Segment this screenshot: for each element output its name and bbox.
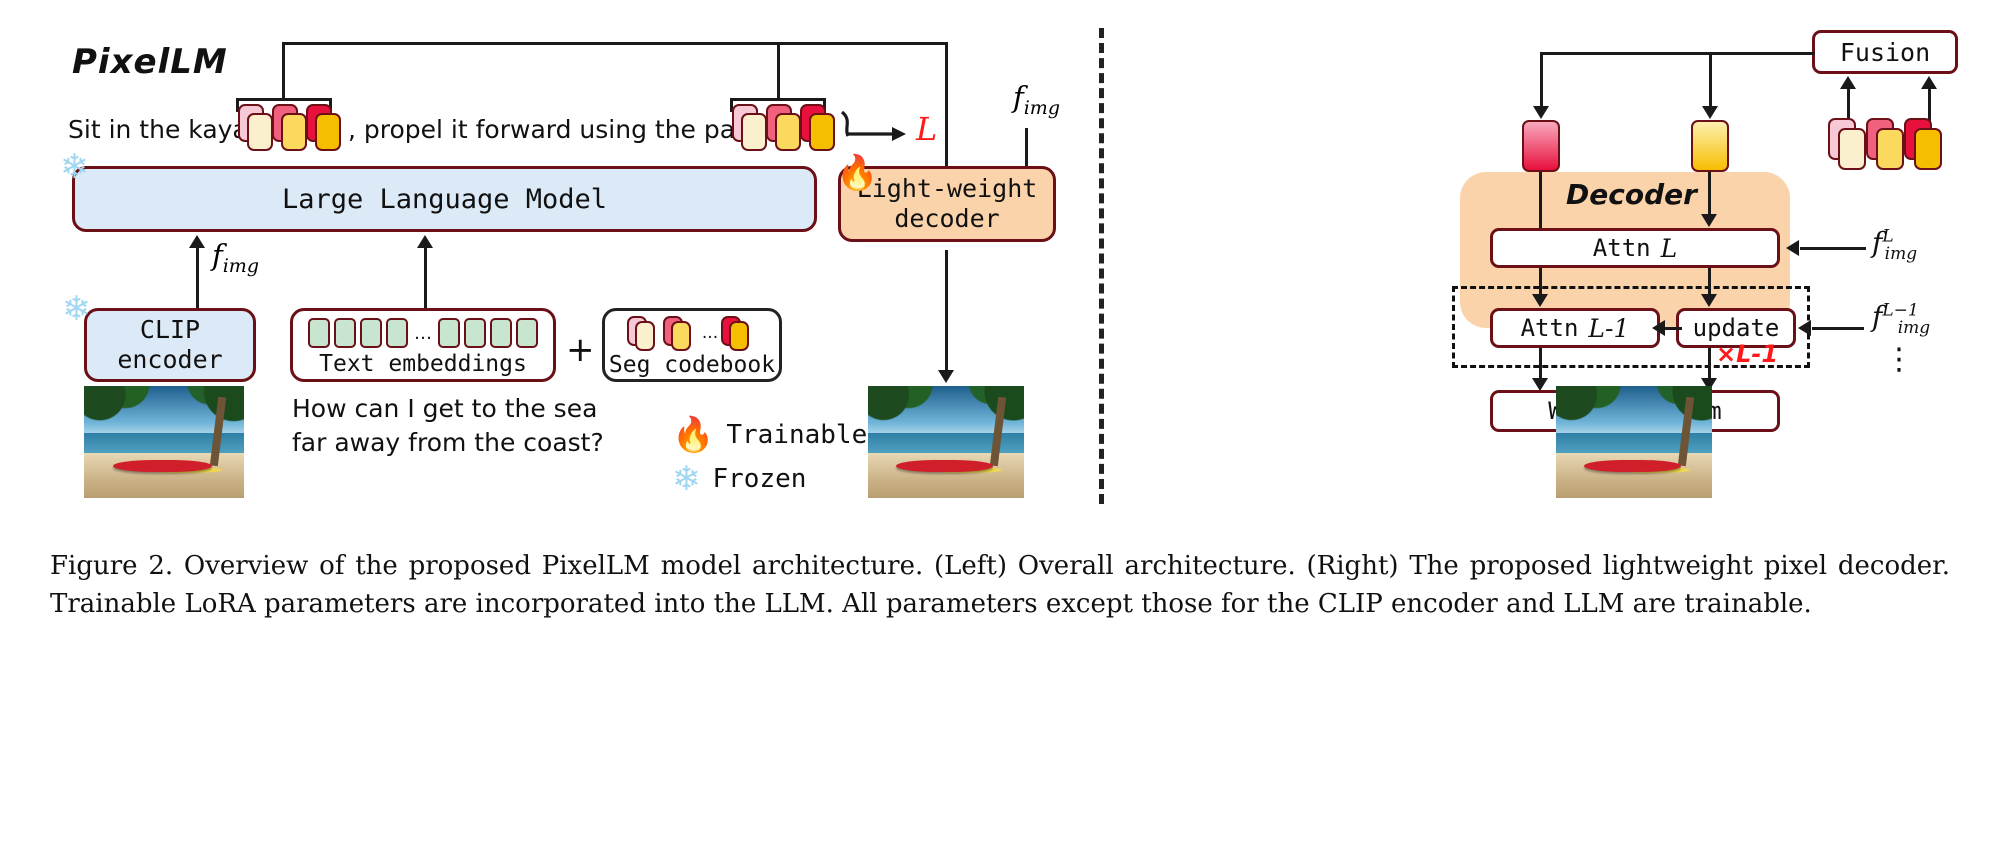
- text-embedding-token: [334, 318, 356, 348]
- right-rail-left-drop: [1540, 52, 1543, 110]
- f-img-Lm1-arrowhead: [1798, 320, 1811, 336]
- attnL-to-attnLm1-arrowhead: [1532, 294, 1548, 307]
- token-front-3: [1914, 128, 1942, 170]
- attnL-to-update-arrowhead: [1701, 294, 1717, 307]
- snowflake-icon: ❄: [62, 292, 91, 326]
- attn-L-name: Attn: [1593, 234, 1651, 262]
- update-to-attnLm1-line: [1664, 327, 1682, 330]
- fire-icon: 🔥: [836, 156, 878, 190]
- token-front-1: [247, 113, 273, 151]
- text-embedding-token: [464, 318, 486, 348]
- decoder-line-1: Light-weight: [857, 174, 1038, 204]
- text-embedding-token: [490, 318, 512, 348]
- query-token-yellow: [1691, 120, 1729, 172]
- f-img-L-line: [1800, 247, 1866, 250]
- token-group-a: [238, 104, 342, 154]
- text-embeddings-ellipsis: …: [412, 323, 434, 344]
- token-front-1: [741, 113, 767, 151]
- figure-root: PixelLM Sit in the kayak , propel it for…: [0, 0, 2000, 849]
- right-rail-left-arrowhead: [1533, 106, 1549, 119]
- f-img-L-label: fLimg: [1872, 226, 1917, 264]
- embeddings-to-llm-line: [424, 247, 427, 309]
- top-rail: [282, 42, 948, 45]
- text-embedding-token: [308, 318, 330, 348]
- f-img-Lm1-sub: img: [1898, 318, 1930, 338]
- sentence-part-1: Sit in the kayak: [68, 115, 262, 144]
- f-img-decoder-label: fimg: [1013, 80, 1060, 119]
- decoder-line-2: decoder: [894, 204, 999, 234]
- f-img-L-sub: img: [1885, 244, 1917, 264]
- text-embedding-token: [360, 318, 382, 348]
- legend-trainable: 🔥 Trainable: [672, 418, 867, 452]
- token-front-3: [315, 113, 341, 151]
- seg-token-pair: [627, 316, 663, 350]
- repeat-count-label: ×L-1: [1716, 340, 1778, 368]
- output-image-right: [1556, 386, 1712, 498]
- attnL-to-update-line: [1708, 268, 1711, 296]
- update-to-sum-line: [1708, 348, 1711, 382]
- attnLm1-to-sum-line: [1539, 348, 1542, 382]
- fusion-output-line: [1812, 52, 1815, 55]
- decoder-to-output-arrowhead: [938, 370, 954, 383]
- text-embeddings-label: Text embeddings: [319, 351, 527, 377]
- text-embeddings-box[interactable]: … Text embeddings: [290, 308, 556, 382]
- f-img-Lm1-label: fL−1img: [1872, 300, 1930, 338]
- f-img-L-base: f: [1872, 226, 1882, 259]
- bracket-a-stem: [282, 42, 285, 99]
- f-img-base: f: [1013, 80, 1024, 114]
- fire-icon: 🔥: [672, 418, 714, 452]
- legend-frozen: ❄ Frozen: [672, 462, 806, 496]
- attnL-to-attnLm1-line: [1539, 268, 1542, 296]
- sentence-part-2: , propel it forward using the paddle: [348, 115, 789, 144]
- right-rail-mid-drop: [1709, 52, 1712, 110]
- snowflake-icon: ❄: [672, 462, 701, 496]
- question-line-2: far away from the coast?: [292, 428, 604, 457]
- right-rail-mid-arrowhead: [1702, 106, 1718, 119]
- text-embedding-token: [516, 318, 538, 348]
- fusion-box[interactable]: Fusion: [1812, 30, 1958, 74]
- yellow-token-stem: [1708, 172, 1711, 216]
- right-codebook-tokens: [1828, 118, 1968, 174]
- token-front-3: [809, 113, 835, 151]
- token-front-1: [1838, 128, 1866, 170]
- token-front-2: [281, 113, 307, 151]
- embeddings-to-llm-arrowhead: [417, 235, 433, 248]
- text-embedding-token: [438, 318, 460, 348]
- right-top-rail: [1540, 52, 1814, 55]
- codebook-to-fusion-arrowhead-2: [1921, 76, 1937, 89]
- decoder-to-output-line: [945, 250, 948, 372]
- legend-trainable-label: Trainable: [726, 420, 867, 450]
- clip-encoder-box[interactable]: CLIP encoder: [84, 308, 256, 382]
- codebook-to-fusion-arrowhead-1: [1840, 76, 1856, 89]
- bracket-b-stem: [777, 42, 780, 99]
- clip-line-2: encoder: [117, 345, 222, 375]
- yellow-token-arrowhead: [1701, 214, 1717, 227]
- f-img-sub: img: [223, 255, 259, 277]
- f-img-Lm1-base: f: [1872, 300, 1882, 333]
- token-front-2: [775, 113, 801, 151]
- figure-caption: Figure 2. Overview of the proposed Pixel…: [50, 548, 1950, 623]
- token-group-b: [732, 104, 836, 154]
- f-img-base: f: [212, 238, 223, 272]
- seg-codebook-box[interactable]: ... Seg codebook: [602, 308, 782, 382]
- loss-label: L: [916, 110, 937, 148]
- vertical-dots: ⋮: [1884, 346, 1914, 373]
- f-img-Lm1-line: [1812, 327, 1864, 330]
- red-token-stem: [1539, 172, 1542, 228]
- seg-codebook-ellipsis: ...: [699, 323, 721, 343]
- attn-L-index: L: [1661, 234, 1678, 263]
- seg-codebook-label: Seg codebook: [609, 352, 775, 378]
- seg-token-pair: [663, 316, 699, 350]
- f-img-L-arrowhead: [1786, 240, 1799, 256]
- attn-L-box[interactable]: Attn L: [1490, 228, 1780, 268]
- question-line-1: How can I get to the sea: [292, 394, 597, 423]
- query-token-red: [1522, 120, 1560, 172]
- output-image-left: [868, 386, 1024, 498]
- decoder-title: Decoder: [1566, 178, 1697, 211]
- token-front-2: [1876, 128, 1904, 170]
- legend-frozen-label: Frozen: [713, 464, 807, 494]
- attn-Lm1-name: Attn: [1521, 314, 1579, 342]
- panel-divider: [1099, 28, 1104, 504]
- large-language-model-box[interactable]: Large Language Model: [72, 166, 817, 232]
- f-img-sub: img: [1024, 97, 1060, 119]
- f-img-clip-label: fimg: [212, 238, 259, 277]
- text-embedding-token: [386, 318, 408, 348]
- update-to-attnLm1-arrowhead: [1652, 320, 1665, 336]
- page-title: PixelLM: [72, 42, 228, 82]
- clip-to-llm-arrowhead: [189, 235, 205, 248]
- seg-token-pair: [721, 316, 757, 350]
- input-image: [84, 386, 244, 498]
- plus-symbol: +: [566, 330, 595, 370]
- attn-Lm1-index: L-1: [1588, 314, 1629, 343]
- clip-line-1: CLIP: [140, 315, 200, 345]
- attn-L-minus-1-box[interactable]: Attn L-1: [1490, 308, 1660, 348]
- snowflake-icon: ❄: [60, 150, 89, 184]
- clip-to-llm-line: [196, 247, 199, 309]
